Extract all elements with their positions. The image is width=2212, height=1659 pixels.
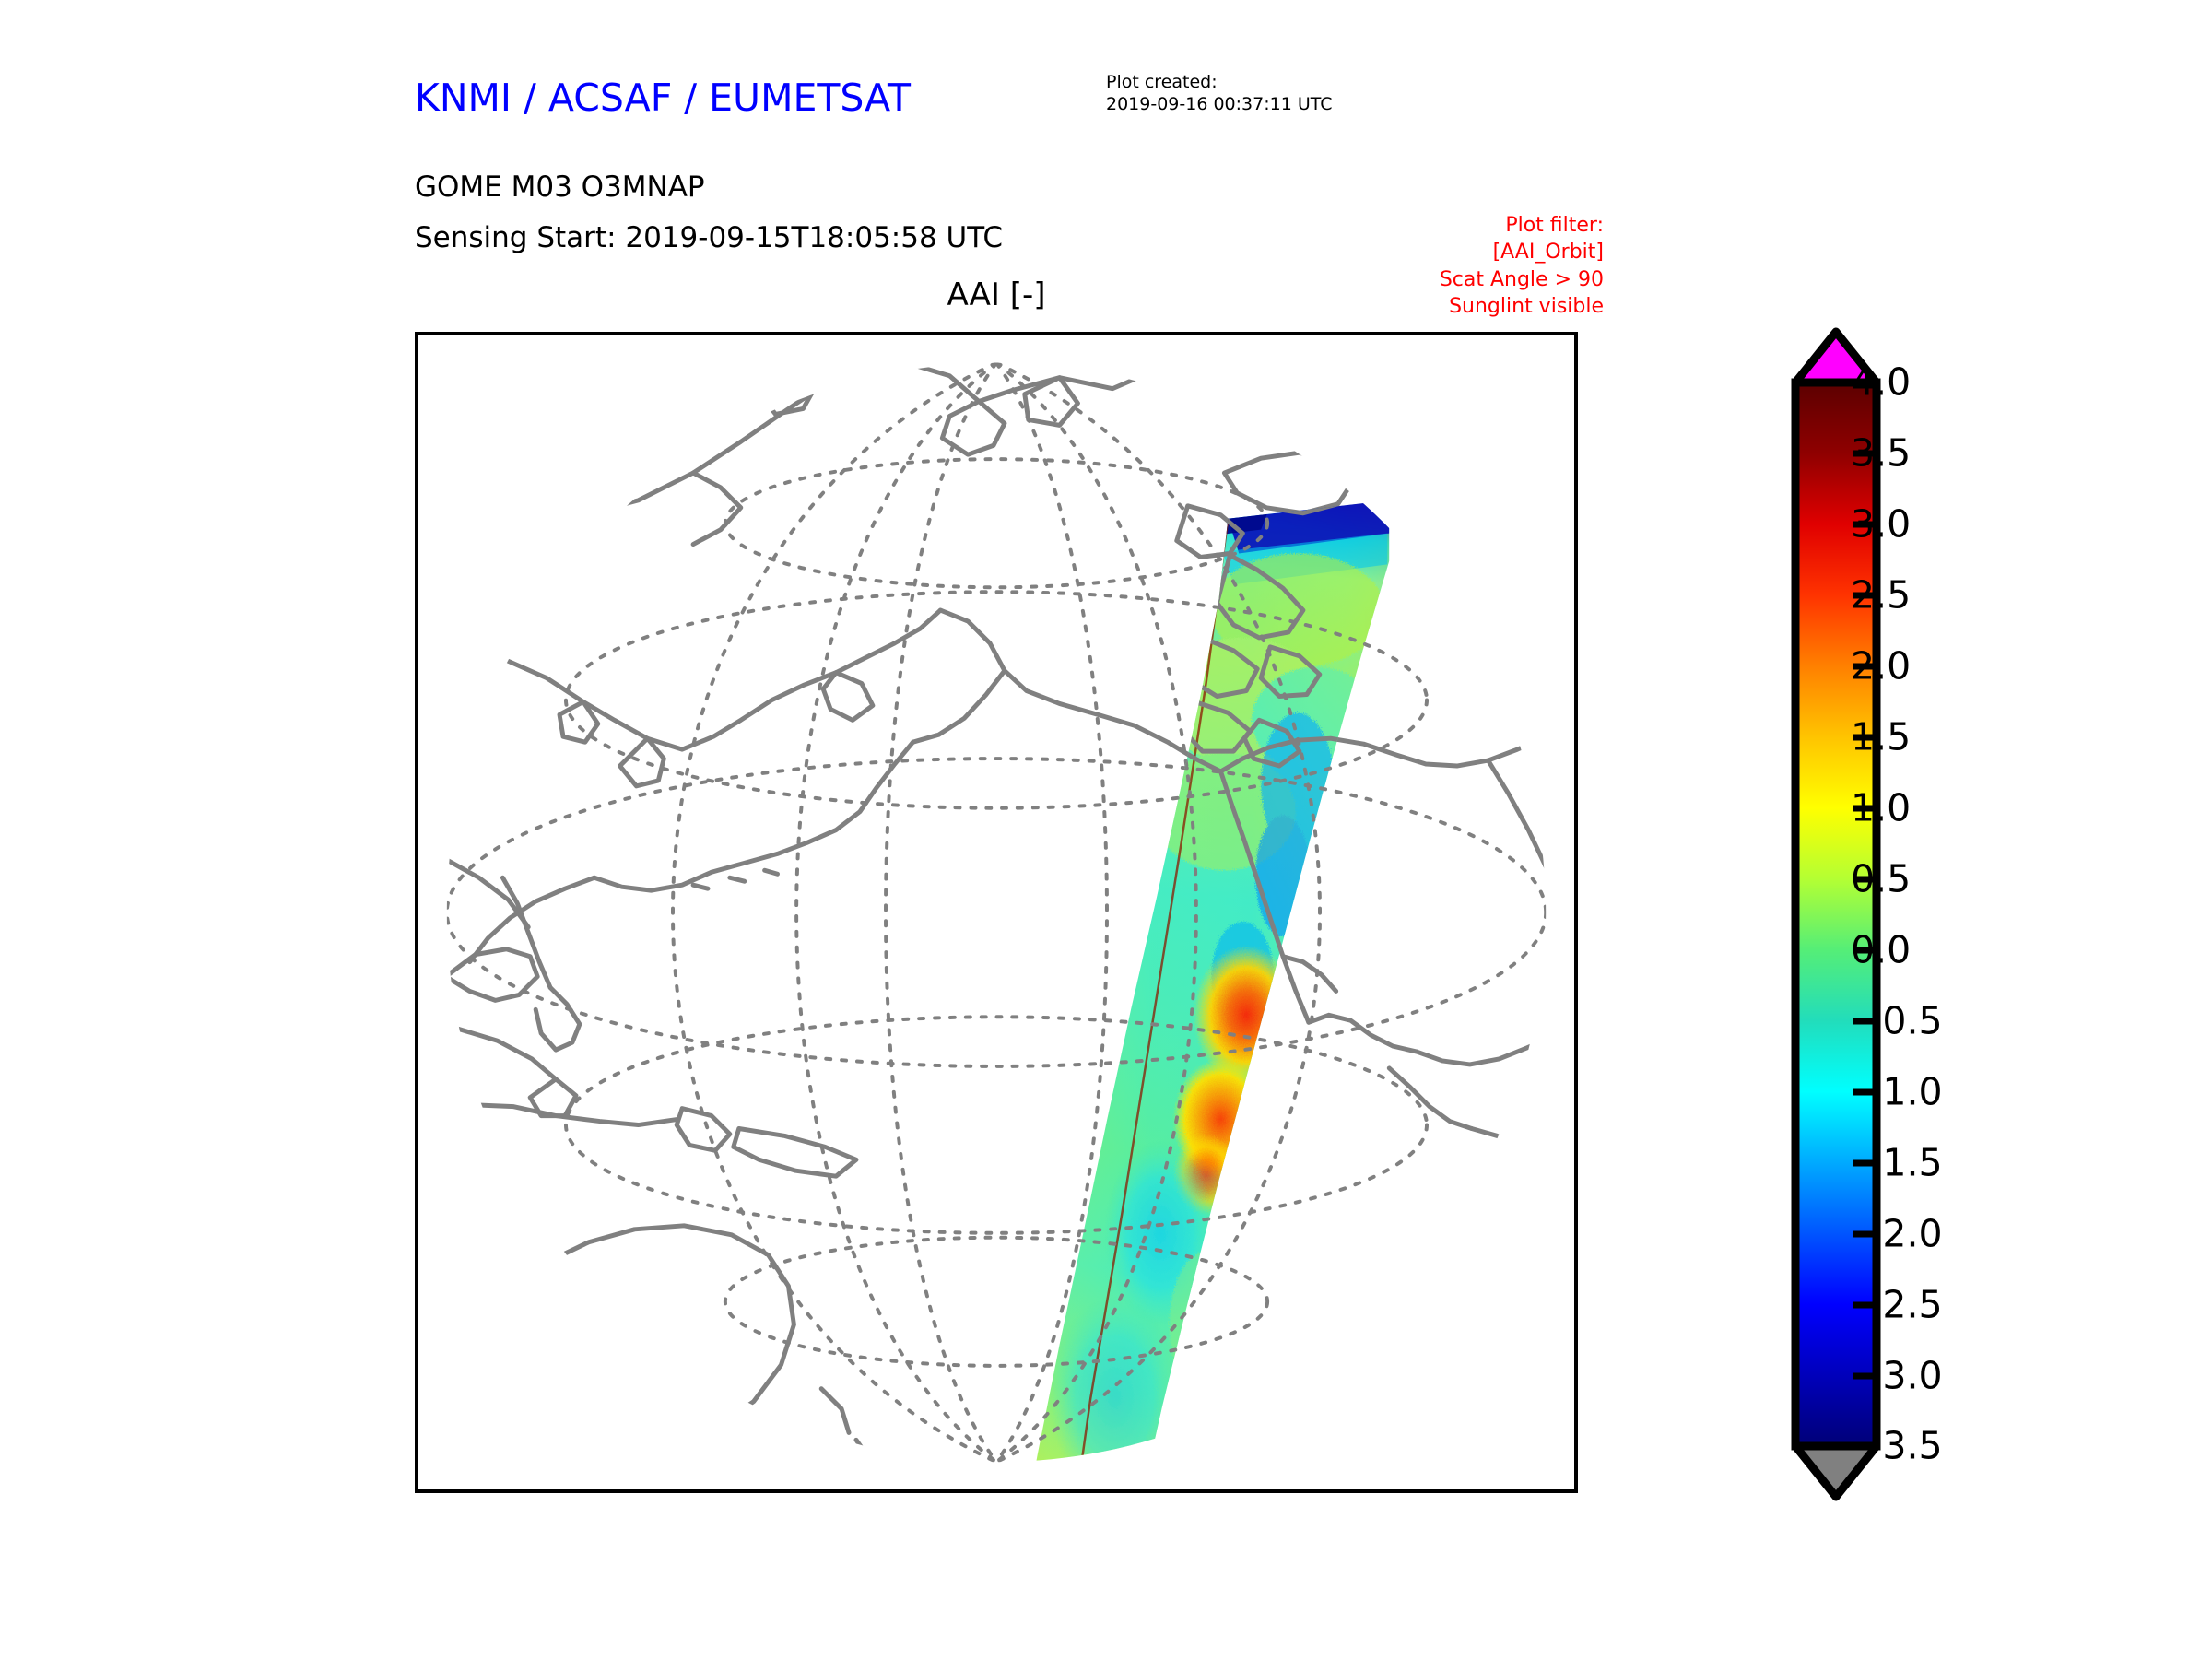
colorbar-tick-label-4: 2.0 <box>1851 648 1911 686</box>
figure-canvas: KNMI / ACSAF / EUMETSAT Plot created: 20… <box>0 0 2212 1659</box>
colorbar-tick-label-6: 1.0 <box>1851 790 1911 828</box>
colorbar-tick-label-12: −2.0 <box>1851 1216 1943 1253</box>
colorbar-tick-label-3: 2.5 <box>1851 577 1911 615</box>
map-axes[interactable] <box>415 332 1578 1493</box>
colorbar-tick-label-0: 4.0 <box>1851 364 1911 402</box>
colorbar-tick-label-10: −1.0 <box>1851 1074 1943 1112</box>
colorbar-tick-label-1: 3.5 <box>1851 435 1911 473</box>
sensing-start: Sensing Start: 2019-09-15T18:05:58 UTC <box>415 221 1003 254</box>
plot-filter-line-0: Plot filter: <box>1198 212 1604 239</box>
colorbar[interactable]: 4.0 3.5 3.0 2.5 2.0 1.5 1.0 0.5 0.0 −0.5… <box>1788 324 2175 1504</box>
colorbar-tick-label-14: −3.0 <box>1851 1358 1943 1395</box>
colorbar-tick-label-8: 0.0 <box>1851 932 1911 970</box>
colorbar-tick-label-5: 1.5 <box>1851 719 1911 757</box>
colorbar-tick-label-7: 0.5 <box>1851 861 1911 899</box>
agency-title: KNMI / ACSAF / EUMETSAT <box>415 76 911 120</box>
colorbar-tick-label-13: −2.5 <box>1851 1287 1943 1324</box>
colorbar-tick-label-9: −0.5 <box>1851 1003 1943 1041</box>
colorbar-tick-label-11: −1.5 <box>1851 1145 1943 1182</box>
map-plot <box>418 335 1574 1489</box>
map-title: AAI [-] <box>415 276 1578 313</box>
colorbar-tick-label-15: −3.5 <box>1851 1428 1943 1465</box>
colorbar-tick-label-2: 3.0 <box>1851 506 1911 544</box>
product-title: GOME M03 O3MNAP <box>415 171 705 204</box>
plot-filter-line-1: [AAI_Orbit] <box>1198 239 1604 265</box>
